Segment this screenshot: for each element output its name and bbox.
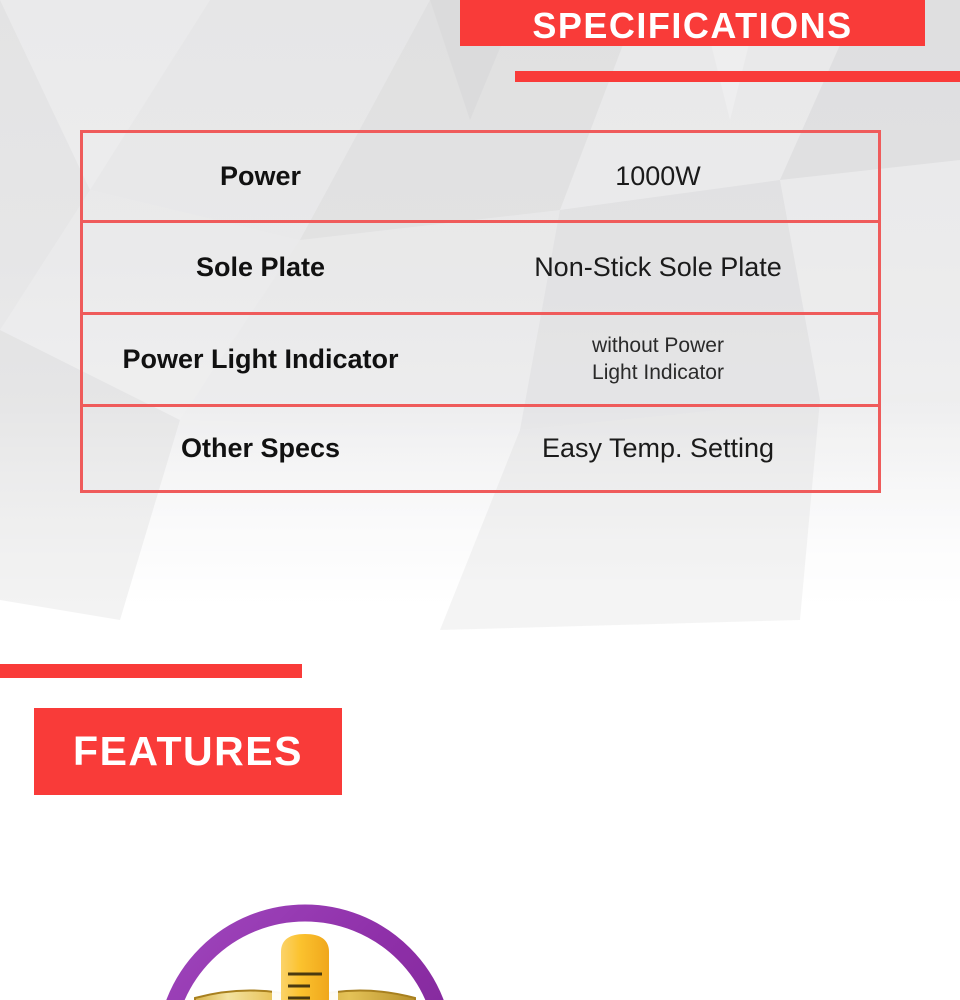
- table-row: Power 1000W: [83, 133, 878, 223]
- features-heading-text: FEATURES: [73, 731, 303, 772]
- specifications-heading-banner: SPECIFICATIONS: [460, 0, 925, 46]
- spec-label: Power Light Indicator: [83, 344, 438, 375]
- features-section: FEATURES: [0, 640, 960, 1000]
- specifications-table: Power 1000W Sole Plate Non-Stick Sole Pl…: [80, 130, 881, 493]
- specifications-heading-text: SPECIFICATIONS: [532, 8, 852, 44]
- spec-value: 1000W: [438, 160, 878, 192]
- specifications-underline-bar: [515, 71, 960, 82]
- spec-value-line: Light Indicator: [444, 360, 872, 387]
- spec-value-line: without Power: [444, 333, 872, 360]
- table-row: Power Light Indicator without Power Ligh…: [83, 315, 878, 407]
- features-heading-banner: FEATURES: [34, 708, 342, 795]
- no-overheat-shield-thermometer-icon: [140, 878, 470, 1000]
- spec-value: Non-Stick Sole Plate: [438, 251, 878, 283]
- spec-label: Other Specs: [83, 433, 438, 464]
- spec-value: without Power Light Indicator: [438, 333, 878, 387]
- spec-value: Easy Temp. Setting: [438, 432, 878, 464]
- table-row: Sole Plate Non-Stick Sole Plate: [83, 223, 878, 315]
- spec-label: Sole Plate: [83, 252, 438, 283]
- spec-label: Power: [83, 161, 438, 192]
- specifications-section: SPECIFICATIONS Power 1000W Sole Plate No…: [0, 0, 960, 640]
- product-detail-page: SPECIFICATIONS Power 1000W Sole Plate No…: [0, 0, 960, 1000]
- features-accent-bar: [0, 664, 302, 678]
- thermometer-body: [281, 934, 329, 1000]
- table-row: Other Specs Easy Temp. Setting: [83, 407, 878, 493]
